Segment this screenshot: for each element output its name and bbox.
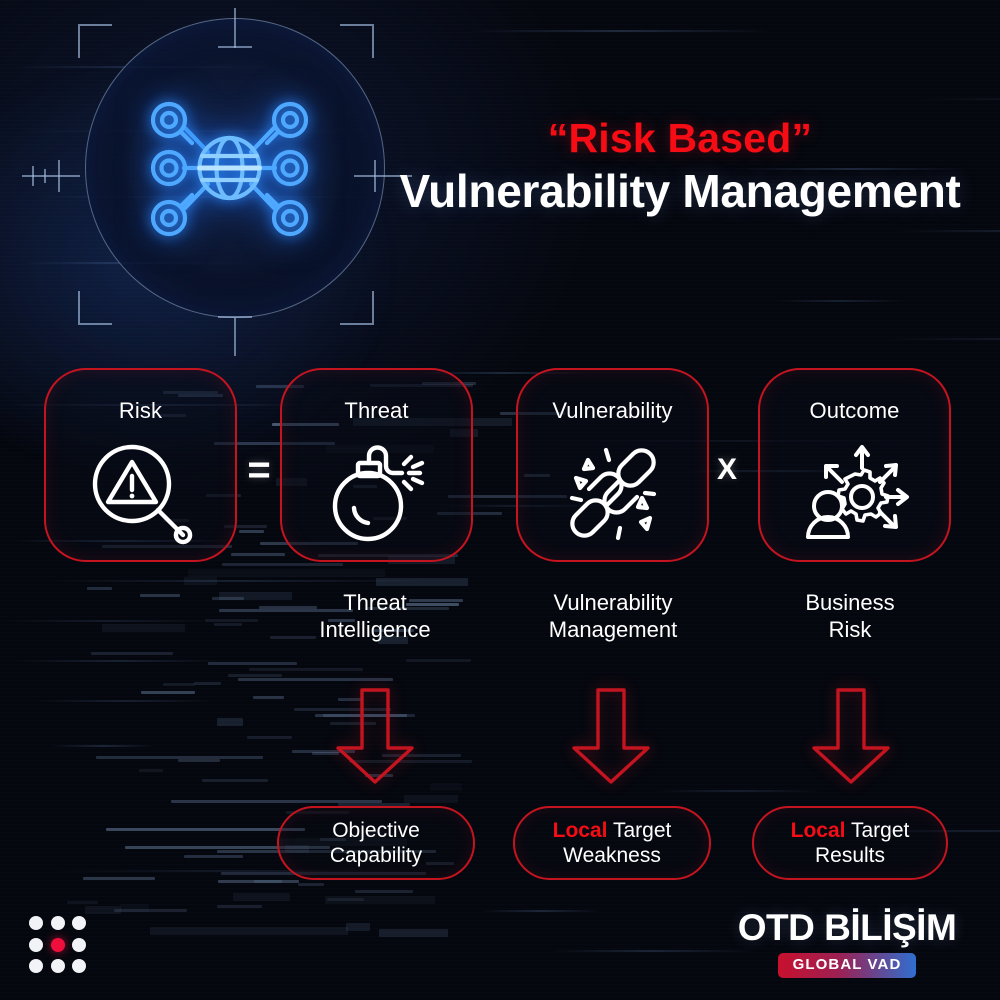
card-risk-label: Risk — [46, 398, 235, 424]
card-outcome[interactable]: Outcome — [758, 368, 951, 562]
dot-grid-logo — [29, 916, 87, 974]
globe-network-magnifier-icon — [122, 68, 337, 268]
outcome-text: ObjectiveCapability — [320, 818, 432, 868]
card-vulnerability[interactable]: Vulnerability — [516, 368, 709, 562]
dot — [72, 916, 86, 930]
card-vulnerability-label: Vulnerability — [518, 398, 707, 424]
reticle-tick-top-cap — [218, 46, 252, 48]
dot — [72, 959, 86, 973]
reticle-tick-left-minor-1 — [32, 166, 34, 186]
outcome-text: Local TargetWeakness — [543, 818, 682, 868]
reticle-corner-bottom-left — [78, 291, 112, 325]
reticle-tick-bottom — [234, 318, 236, 356]
magnifier-warning-icon — [82, 436, 200, 548]
infographic-canvas: “Risk Based” Vulnerability Management Ri… — [0, 0, 1000, 1000]
dot — [29, 916, 43, 930]
reticle-corner-top-left — [78, 24, 112, 58]
broken-chain-icon — [554, 436, 672, 548]
title-quoted: “Risk Based” — [370, 116, 990, 161]
reticle-corner-top-right — [340, 24, 374, 58]
down-arrow-icon — [332, 686, 418, 786]
reticle-tick-left-minor-2 — [44, 169, 46, 183]
title-main: Vulnerability Management — [370, 165, 990, 218]
brand-name: OTD BİLİŞİM — [722, 909, 972, 946]
formula-row: Risk Threat — [0, 360, 1000, 570]
caption-threat-intelligence: ThreatIntelligence — [255, 590, 495, 644]
card-outcome-label: Outcome — [760, 398, 949, 424]
page-title: “Risk Based” Vulnerability Management — [370, 116, 990, 218]
card-threat-label: Threat — [282, 398, 471, 424]
down-arrow-icon — [568, 686, 654, 786]
outcome-text: Local TargetResults — [781, 818, 920, 868]
reticle-tick-top — [234, 8, 236, 48]
bomb-icon — [318, 436, 436, 548]
down-arrow-icon — [808, 686, 894, 786]
dot — [72, 938, 86, 952]
arrow-row — [0, 686, 1000, 792]
operator-times: X — [704, 455, 750, 485]
brand-logo: OTD BİLİŞİM GLOBAL VAD — [722, 909, 972, 979]
reticle-corner-bottom-right — [340, 291, 374, 325]
outcome-local-target-weakness[interactable]: Local TargetWeakness — [513, 806, 711, 880]
caption-business-risk: BusinessRisk — [730, 590, 970, 644]
reticle-tick-left-cap — [58, 160, 60, 192]
outcome-highlight: Local — [791, 819, 846, 842]
reticle-tick-bottom-cap — [218, 316, 252, 318]
caption-vulnerability-management: VulnerabilityManagement — [493, 590, 733, 644]
dot-accent — [51, 938, 65, 952]
dot — [51, 959, 65, 973]
dot — [29, 959, 43, 973]
status-badge: GLOBAL VAD — [778, 953, 917, 979]
outcome-local-target-results[interactable]: Local TargetResults — [752, 806, 948, 880]
operator-equals: = — [238, 450, 280, 490]
card-risk[interactable]: Risk — [44, 368, 237, 562]
outcome-objective-capability[interactable]: ObjectiveCapability — [277, 806, 475, 880]
card-threat[interactable]: Threat — [280, 368, 473, 562]
dot — [29, 938, 43, 952]
outcome-highlight: Local — [553, 819, 608, 842]
person-gear-arrows-icon — [796, 436, 914, 548]
targeting-reticle — [22, 8, 412, 356]
reticle-tick-left — [22, 175, 80, 177]
dot — [51, 916, 65, 930]
